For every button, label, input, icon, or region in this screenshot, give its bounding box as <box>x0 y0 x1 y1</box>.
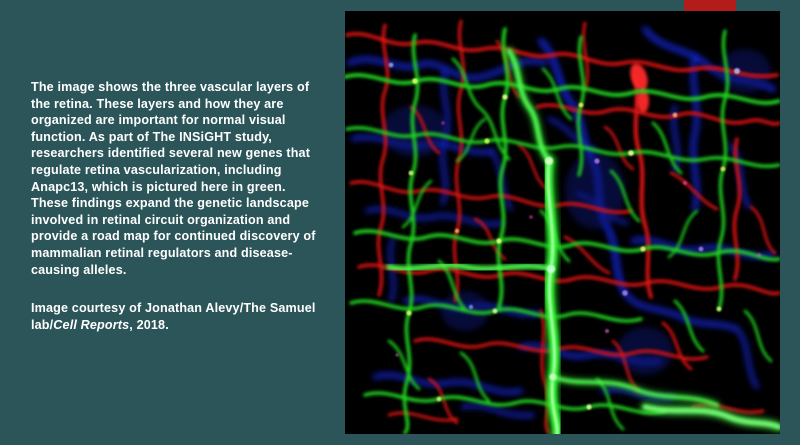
retinal-vasculature-image <box>345 11 780 434</box>
credit-journal-name: Cell Reports <box>53 318 129 332</box>
micrograph-panel <box>345 11 780 434</box>
credit-suffix: , 2018. <box>129 318 169 332</box>
body-paragraph: The image shows the three vascular layer… <box>31 79 316 278</box>
presentation-slide: The image shows the three vascular layer… <box>0 0 800 445</box>
image-credit-line: Image courtesy of Jonathan Alevy/The Sam… <box>31 278 316 333</box>
text-column: The image shows the three vascular layer… <box>31 79 316 333</box>
red-accent-bar <box>684 0 736 11</box>
